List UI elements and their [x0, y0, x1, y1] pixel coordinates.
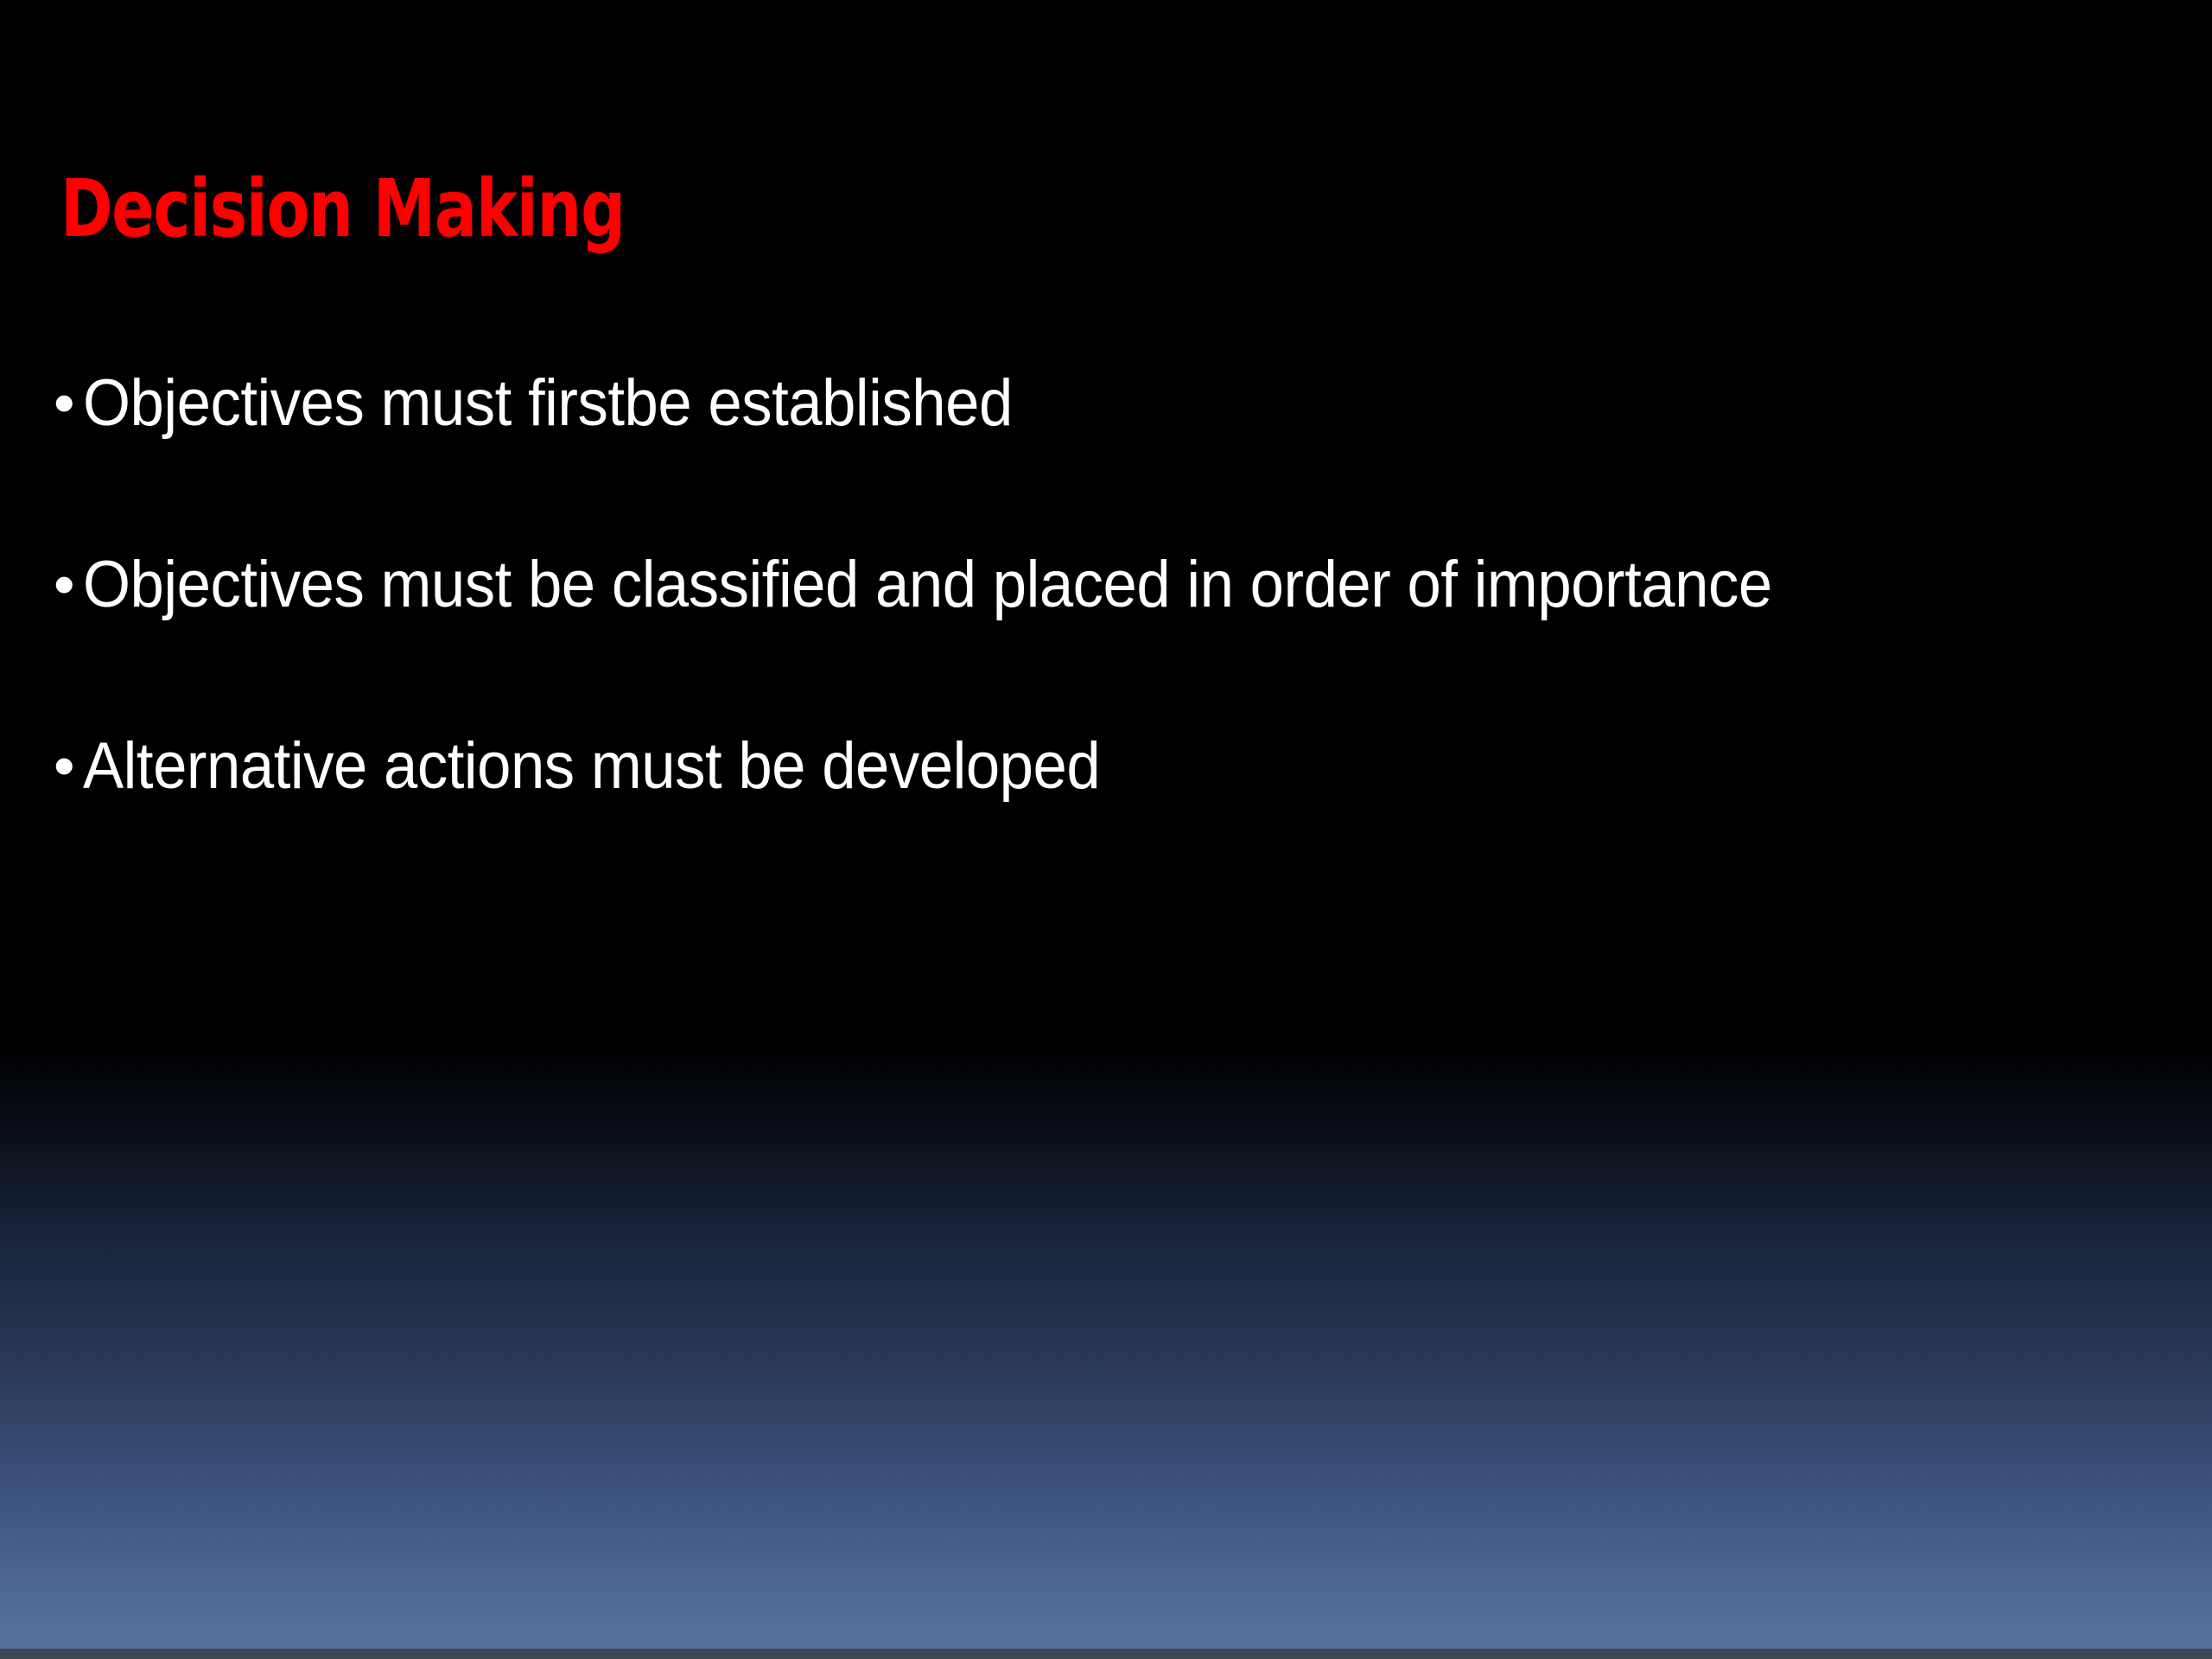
bullet-item-1: • Objectives must firstbe established [54, 366, 2145, 548]
bullet-point-icon: • [54, 729, 83, 802]
slide-content: Decision Making • Objectives must firstb… [0, 0, 2212, 1659]
bullet-item-2: • Objectives must be classified and plac… [54, 548, 2145, 729]
bullet-point-icon: • [54, 366, 83, 439]
bullet-item-text: Alternative actions must be developed [83, 729, 2000, 804]
bullet-item-text: Objectives must firstbe established [83, 366, 2000, 441]
slide-title: Decision Making [60, 169, 625, 249]
bullet-point-icon: • [54, 548, 83, 620]
presentation-slide: Decision Making • Objectives must firstb… [0, 0, 2212, 1659]
bullet-item-text: Objectives must be classified and placed… [83, 548, 2000, 622]
bullet-item-3: • Alternative actions must be developed [54, 729, 2145, 911]
bullet-list: • Objectives must firstbe established • … [54, 366, 2145, 911]
